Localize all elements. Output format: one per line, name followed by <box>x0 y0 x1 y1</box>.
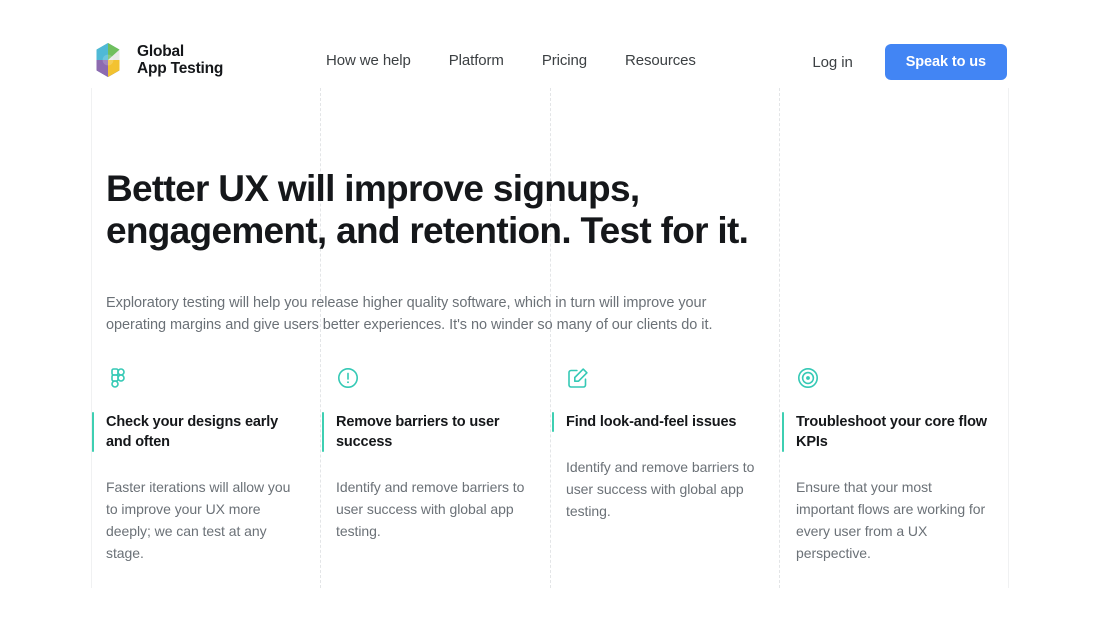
feature-heading-4: Troubleshoot your core flow KPIs <box>782 412 990 452</box>
accent-bar-icon <box>92 412 94 452</box>
feature-heading-3: Find look-and-feel issues <box>552 412 760 432</box>
brand-logo[interactable]: Global App Testing <box>88 40 223 80</box>
page-root: Global App Testing How we help Platform … <box>0 0 1100 630</box>
feature-card-4: Troubleshoot your core flow KPIs Ensure … <box>782 366 1012 564</box>
feature-title-2: Remove barriers to user success <box>336 412 530 452</box>
nav-item-platform[interactable]: Platform <box>449 52 504 69</box>
edit-square-icon <box>566 366 590 390</box>
site-header: Global App Testing How we help Platform … <box>0 0 1100 88</box>
target-icon <box>796 366 820 390</box>
feature-title-4: Troubleshoot your core flow KPIs <box>796 412 990 452</box>
accent-bar-icon <box>552 412 554 432</box>
nav-item-how-we-help[interactable]: How we help <box>326 52 411 69</box>
nav-item-resources[interactable]: Resources <box>625 52 696 69</box>
primary-nav: How we help Platform Pricing Resources <box>326 52 696 69</box>
hero-subtitle: Exploratory testing will help you releas… <box>106 292 761 336</box>
feature-body-2: Identify and remove barriers to user suc… <box>336 476 530 542</box>
hero-section: Better UX will improve signups, engageme… <box>106 168 786 336</box>
feature-body-4: Ensure that your most important flows ar… <box>796 476 990 564</box>
feature-card-3: Find look-and-feel issues Identify and r… <box>552 366 782 564</box>
accent-bar-icon <box>322 412 324 452</box>
feature-heading-2: Remove barriers to user success <box>322 412 530 452</box>
brand-logo-text: Global App Testing <box>137 43 223 77</box>
hexagon-logo-icon <box>88 40 128 80</box>
header-actions: Log in Speak to us <box>812 44 1007 80</box>
feature-card-1: Check your designs early and often Faste… <box>92 366 322 564</box>
figma-icon <box>106 366 130 390</box>
feature-card-2: Remove barriers to user success Identify… <box>322 366 552 564</box>
feature-title-3: Find look-and-feel issues <box>566 412 736 432</box>
page-title: Better UX will improve signups, engageme… <box>106 168 766 252</box>
accent-bar-icon <box>782 412 784 452</box>
feature-body-1: Faster iterations will allow you to impr… <box>106 476 300 564</box>
login-link[interactable]: Log in <box>812 54 852 71</box>
feature-columns: Check your designs early and often Faste… <box>92 366 1012 564</box>
brand-logo-line1: Global <box>137 43 184 60</box>
speak-to-us-button[interactable]: Speak to us <box>885 44 1007 80</box>
alert-circle-icon <box>336 366 360 390</box>
feature-title-1: Check your designs early and often <box>106 412 300 452</box>
feature-body-3: Identify and remove barriers to user suc… <box>566 456 760 522</box>
nav-item-pricing[interactable]: Pricing <box>542 52 587 69</box>
feature-heading-1: Check your designs early and often <box>92 412 300 452</box>
brand-logo-line2: App Testing <box>137 60 223 77</box>
